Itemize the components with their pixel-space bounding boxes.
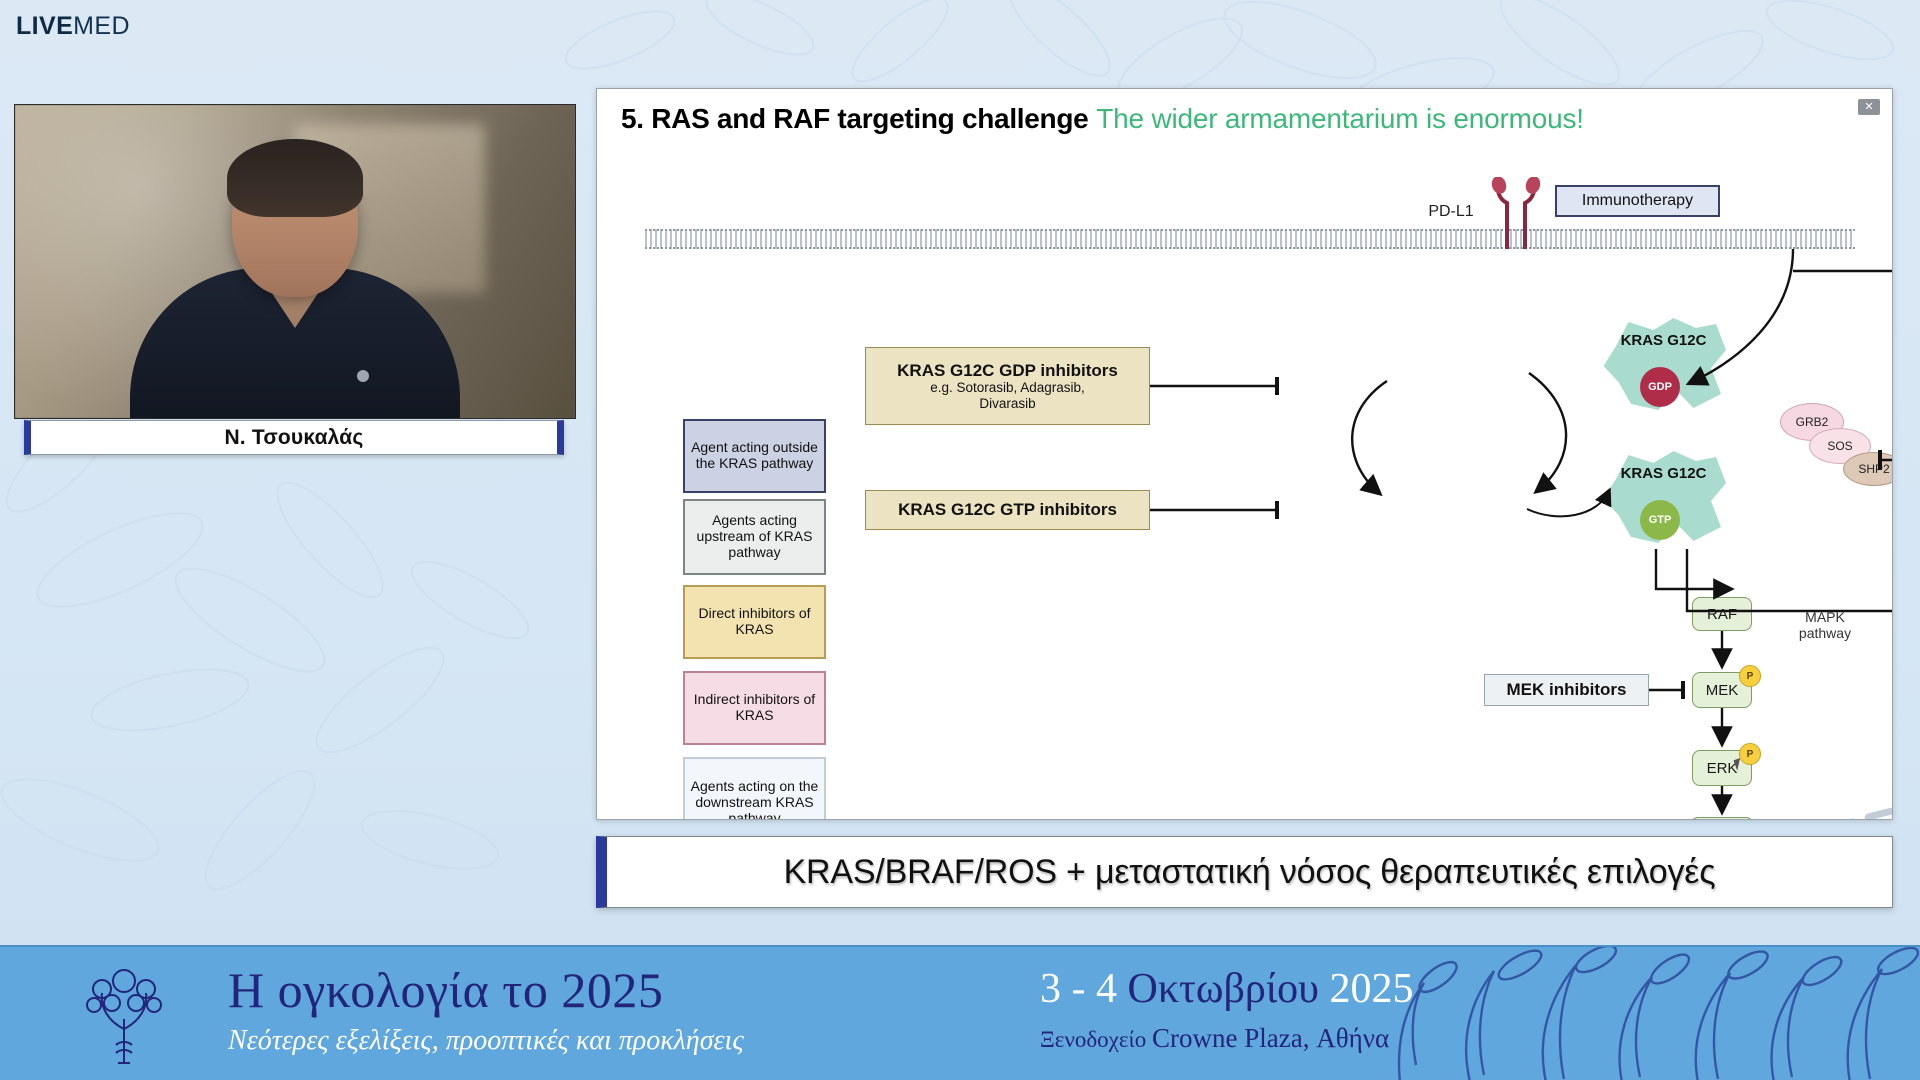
conference-date-month: Οκτωβρίου [1128, 966, 1319, 1012]
legend-label-3: Indirect inhibitors of KRAS [685, 692, 824, 723]
kras-gtp-title: KRAS G12C GTP inhibitors [898, 500, 1117, 519]
conference-subtitle: Νεότερες εξελίξεις, προοπτικές και προκλ… [228, 1025, 744, 1057]
slide-caption-bar: KRAS/BRAF/ROS + μεταστατική νόσος θεραπε… [596, 836, 1893, 908]
kras-gdp-title: KRAS G12C GDP inhibitors [897, 361, 1118, 380]
cell-membrane [645, 229, 1855, 249]
mapk-label-line1: MAPK [1777, 609, 1873, 625]
immunotherapy-label: Immunotherapy [1582, 192, 1693, 210]
slide-surface[interactable]: ✕ 5. RAS and RAF targeting challenge The… [596, 88, 1893, 820]
mapk-label-line2: pathway [1777, 625, 1873, 641]
conference-date: 3 - 4 Οκτωβρίου 2025 [1040, 965, 1413, 1013]
pdl1-label: PD-L1 [1415, 203, 1487, 221]
slide-title-main: 5. RAS and RAF targeting challenge [621, 103, 1088, 134]
raf-node: RAF [1692, 597, 1752, 631]
conference-date-days: 3 - 4 [1040, 966, 1128, 1012]
shp2-protein: SHP2 [1843, 452, 1893, 486]
slide-caption-text: KRAS/BRAF/ROS + μεταστατική νόσος θεραπε… [784, 853, 1716, 892]
logo-med-text: MED [73, 12, 130, 40]
venue-prefix: Ξενοδοχείο [1040, 1027, 1152, 1052]
legend-label-4: Agents acting on the downstream KRAS pat… [685, 779, 824, 820]
kras-gtp-inhibitors-box[interactable]: KRAS G12C GTP inhibitors [865, 490, 1150, 530]
speaker-name: Ν. Τσουκαλάς [224, 426, 363, 450]
kras-gdp-inhibitors-box[interactable]: KRAS G12C GDP inhibitors e.g. Sotorasib,… [865, 347, 1150, 425]
mek-phospho-icon: P [1739, 665, 1761, 687]
kras-gdp-eg1: e.g. Sotorasib, Adagrasib, [930, 380, 1085, 395]
kras-pathway-diagram: PD-L1 Immunotherapy EGFR family Agent ac… [597, 141, 1893, 820]
gtp-nucleotide: GTP [1640, 500, 1680, 540]
speaker-name-plate: Ν. Τσουκαλάς [24, 420, 564, 455]
kras-gdp-protein-label: KRAS G12C [1621, 332, 1707, 349]
venue-name: Crowne Plaza, Αθήνα [1152, 1023, 1389, 1053]
conference-venue: Ξενοδοχείο Crowne Plaza, Αθήνα [1040, 1023, 1389, 1054]
legend-item-3[interactable]: Indirect inhibitors of KRAS [683, 671, 826, 745]
mek-inhibitors-label: MEK inhibitors [1507, 680, 1627, 699]
legend-item-4[interactable]: Agents acting on the downstream KRAS pat… [683, 757, 826, 820]
mapk-pathway-label: MAPK pathway [1777, 609, 1873, 641]
conference-title: Η ογκολογία το 2025 [228, 961, 663, 1019]
speaker-video[interactable] [14, 104, 576, 419]
close-icon[interactable]: ✕ [1858, 99, 1880, 115]
slide-title-sub: The wider armamentarium is enormous! [1096, 103, 1584, 134]
legend-item-1[interactable]: Agents acting upstream of KRAS pathway [683, 499, 826, 575]
tree-logo-icon [60, 959, 188, 1079]
livemed-logo: LIVEMED [16, 14, 130, 39]
legend-label-0: Agent acting outside the KRAS pathway [685, 440, 824, 471]
gdp-nucleotide: GDP [1640, 367, 1680, 407]
slide-title: 5. RAS and RAF targeting challenge The w… [621, 103, 1584, 135]
immunotherapy-box[interactable]: Immunotherapy [1555, 185, 1720, 217]
shirt-logo [357, 370, 369, 382]
footer-leaf-decoration [1360, 947, 1920, 1080]
presentation-viewer: LIVEMED Ν. Τσουκαλάς ✕ 5. RAS and RAF ta… [0, 0, 1920, 1080]
conference-footer: Η ογκολογία το 2025 Νεότερες εξελίξεις, … [0, 945, 1920, 1080]
legend-label-2: Direct inhibitors of KRAS [685, 606, 824, 637]
mek-inhibitors-box[interactable]: MEK inhibitors [1484, 674, 1649, 706]
legend-item-2[interactable]: Direct inhibitors of KRAS [683, 585, 826, 659]
kras-gdp-eg2: Divarasib [979, 396, 1035, 411]
pdl1-receptor-icon [1487, 177, 1547, 253]
logo-live-text: LIVE [16, 12, 73, 40]
speaker-hair [227, 139, 363, 217]
kras-gtp-protein-label: KRAS G12C [1621, 465, 1707, 482]
nucleus-dna-illustration [1737, 781, 1893, 820]
legend-item-0[interactable]: Agent acting outside the KRAS pathway [683, 419, 826, 493]
legend-label-1: Agents acting upstream of KRAS pathway [685, 513, 824, 560]
